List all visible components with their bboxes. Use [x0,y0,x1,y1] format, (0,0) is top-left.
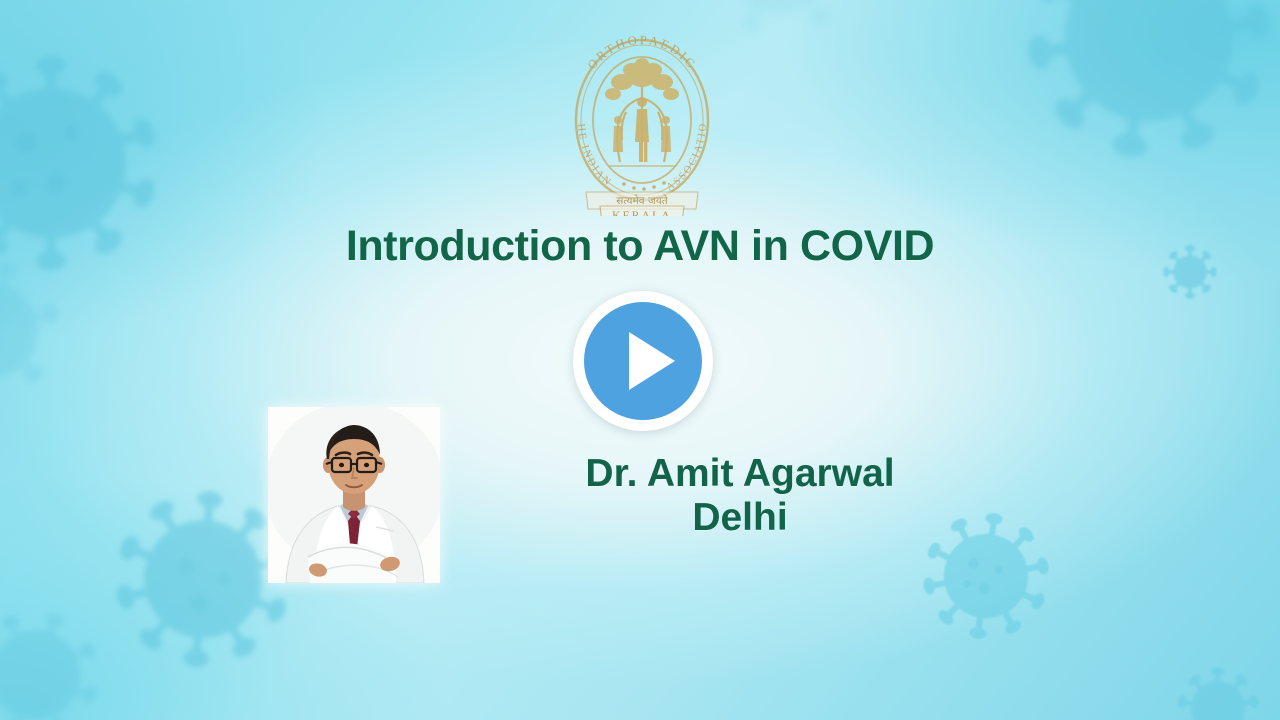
play-triangle-icon [629,332,675,390]
svg-text:KERALA: KERALA [612,210,672,216]
speaker-photo [268,407,440,583]
speaker-info: Dr. Amit Agarwal Delhi [460,452,1020,540]
play-button[interactable] [573,291,713,431]
speaker-city: Delhi [460,496,1020,540]
svg-text:सत्यमेव जयते: सत्यमेव जयते [616,194,669,207]
page-title: Introduction to AVN in COVID [0,222,1280,271]
speaker-name: Dr. Amit Agarwal [460,452,1020,496]
association-logo: ORTHOPAEDIC THE INDIAN ASSOCIATION सत्यम… [556,16,728,216]
video-slide: ORTHOPAEDIC THE INDIAN ASSOCIATION सत्यम… [0,0,1280,720]
